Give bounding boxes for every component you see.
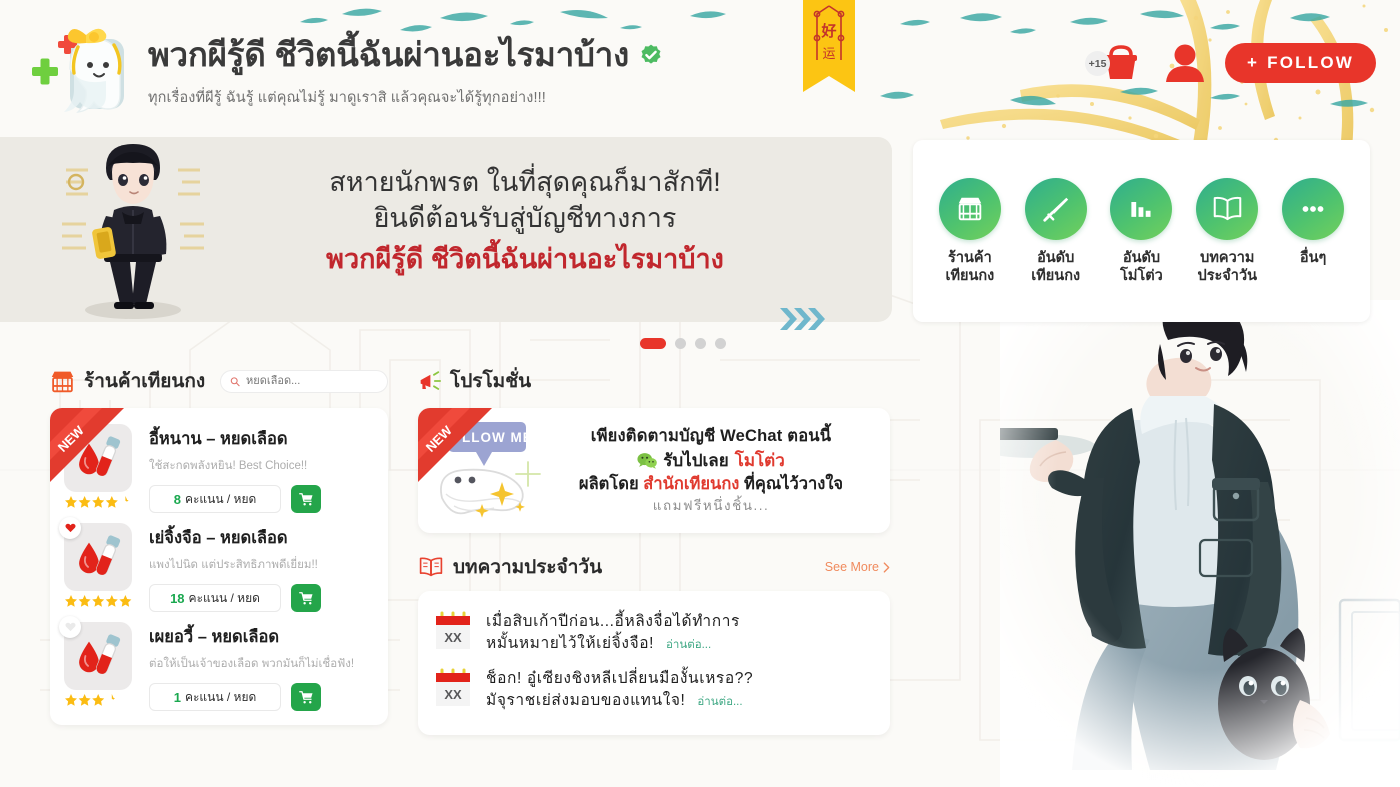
product-price-unit: คะแนน / หยด bbox=[189, 589, 260, 608]
calendar-day: XX bbox=[444, 687, 462, 702]
ellipsis-icon bbox=[1298, 194, 1328, 224]
bar-chart-icon bbox=[1127, 195, 1155, 223]
nav-item-rank-motou[interactable]: อันดับโม่โต่ว bbox=[1102, 178, 1180, 285]
good-luck-ribbon: 好 运 bbox=[803, 0, 855, 92]
product-thumbnail bbox=[64, 523, 132, 591]
add-to-cart-button[interactable] bbox=[291, 485, 321, 513]
list-item[interactable]: XX ช็อก! อู๋เซียงชิงหลีเปลี่ยนมืองั้นเหร… bbox=[434, 662, 874, 719]
favorite-heart-icon[interactable] bbox=[59, 418, 81, 440]
nav-circle-more bbox=[1282, 178, 1344, 240]
promotion-section-title: โปรโมชั่น bbox=[450, 366, 531, 396]
read-more-link[interactable]: อ่านต่อ... bbox=[697, 696, 742, 708]
product-action-row: 18 คะแนน / หยด bbox=[149, 584, 374, 612]
product-info: อี้หนาน – หยดเลือด ใช้สะกดพลังหยิน! Best… bbox=[136, 424, 374, 513]
basket-button[interactable]: +15 bbox=[1097, 43, 1145, 83]
banner-line3: พวกผีรู้ดี ชีวิตนี้ฉันผ่านอะไรมาบ้าง bbox=[225, 242, 825, 278]
product-price-value: 18 bbox=[170, 591, 184, 606]
product-name: เผยอวี้ – หยดเลือด bbox=[149, 624, 374, 650]
shop-search-box[interactable] bbox=[220, 370, 388, 393]
promotion-line3: ผลิตโดย สำนักเทียนกง ที่คุณไว้วางใจ bbox=[546, 473, 876, 496]
nav-item-shop[interactable]: ร้านค้าเทียนกง bbox=[931, 178, 1009, 285]
shopping-cart-icon bbox=[299, 690, 314, 704]
banner-line1: สหายนักพรต ในที่สุดคุณก็มาสักที! bbox=[225, 165, 825, 201]
product-thumbnail bbox=[64, 622, 132, 690]
product-price-pill[interactable]: 1 คะแนน / หยด bbox=[149, 683, 281, 711]
user-profile-icon[interactable] bbox=[1163, 42, 1207, 84]
calendar-icon: XX bbox=[434, 611, 472, 651]
article-line2: มัจุราชเย่ส่งมอบของแทนใจ! bbox=[486, 692, 685, 709]
header-actions: +15 + FOLLOW bbox=[1097, 42, 1376, 84]
search-icon bbox=[230, 376, 240, 387]
product-price-pill[interactable]: 8 คะแนน / หยด bbox=[149, 485, 281, 513]
calendar-day: XX bbox=[444, 630, 462, 645]
promotion-line4: แถมฟรีหนึ่งชิ้น... bbox=[546, 496, 876, 515]
banner-dot-2[interactable] bbox=[675, 338, 686, 349]
product-rating-stars bbox=[64, 496, 132, 509]
promotion-card[interactable]: NEW FOLLOW ME เพียงติดตามบัญชี WeChat ตอ… bbox=[418, 408, 890, 533]
product-name: อี้หนาน – หยดเลือด bbox=[149, 426, 374, 452]
add-to-cart-button[interactable] bbox=[291, 584, 321, 612]
shopping-cart-icon bbox=[299, 492, 314, 506]
add-to-cart-button[interactable] bbox=[291, 683, 321, 711]
product-name: เย่จิ้งจือ – หยดเลือด bbox=[149, 525, 374, 551]
see-more-label: See More bbox=[825, 560, 879, 574]
shopping-cart-icon bbox=[299, 591, 314, 605]
site-header: พวกผีรู้ดี ชีวิตนี้ฉันผ่านอะไรมาบ้าง ทุก… bbox=[0, 0, 1400, 137]
shop-product-card: NEW bbox=[50, 408, 388, 725]
brand-subtitle: ทุกเรื่องที่ผีรู้ ฉันรู้ แต่คุณไม่รู้ มา… bbox=[148, 86, 663, 109]
article-text: เมื่อสิบเก้าปีก่อน...อี้หลิงจื่อได้ทำการ… bbox=[486, 611, 874, 656]
chibi-character-illustration bbox=[48, 132, 218, 322]
articles-section-header: บทความประจำวัน See More bbox=[418, 553, 890, 581]
product-action-row: 8 คะแนน / หยด bbox=[149, 485, 374, 513]
product-thumbnail bbox=[64, 424, 132, 492]
banner-dot-1[interactable] bbox=[640, 338, 666, 349]
shop-section-title: ร้านค้าเทียนกง bbox=[84, 366, 205, 396]
basket-count-badge: +15 bbox=[1085, 51, 1110, 76]
promotion-line2-pre: รับไปเลย bbox=[663, 449, 728, 473]
chevron-right-icon bbox=[883, 562, 890, 573]
banner-line2: ยินดีต้อนรับสู่บัญชีทางการ bbox=[225, 201, 825, 237]
open-book-icon bbox=[1212, 195, 1243, 223]
svg-text:FOLLOW ME: FOLLOW ME bbox=[441, 430, 532, 445]
nav-label-rank-motou: อันดับโม่โต่ว bbox=[1102, 249, 1180, 285]
nav-circle-shop bbox=[939, 178, 1001, 240]
product-rating-stars bbox=[64, 595, 132, 608]
sword-icon bbox=[1041, 194, 1071, 224]
nav-item-rank-tiangong[interactable]: อันดับเทียนกง bbox=[1017, 178, 1095, 285]
calendar-icon: XX bbox=[434, 668, 472, 708]
nav-circle-articles bbox=[1196, 178, 1258, 240]
shop-section-header: ร้านค้าเทียนกง bbox=[50, 366, 388, 396]
list-item[interactable]: อี้หนาน – หยดเลือด ใช้สะกดพลังหยิน! Best… bbox=[50, 414, 388, 513]
promotion-line3-post: ที่คุณไว้วางใจ bbox=[744, 475, 843, 493]
promotion-line2: รับไปเลย โมโต่ว bbox=[546, 449, 876, 473]
product-rating-stars bbox=[64, 694, 132, 707]
article-line2: หมั้นหมายไว้ให้เย่จิ้งจือ! bbox=[486, 635, 654, 652]
product-description: ใช้สะกดพลังหยิน! Best Choice!! bbox=[149, 457, 374, 475]
follow-plus-icon: + bbox=[1247, 53, 1259, 73]
nav-item-more[interactable]: อื่นๆ bbox=[1274, 178, 1352, 267]
storefront-icon bbox=[50, 369, 75, 394]
nav-label-rank-tiangong: อันดับเทียนกง bbox=[1017, 249, 1095, 285]
ghost-mascot-logo bbox=[26, 17, 144, 121]
banner-dot-4[interactable] bbox=[715, 338, 726, 349]
article-line1: ช็อก! อู๋เซียงชิงหลีเปลี่ยนมืองั้นเหรอ?? bbox=[486, 670, 753, 687]
promotion-line2-highlight: โมโต่ว bbox=[735, 449, 785, 473]
banner-copy: สหายนักพรต ในที่สุดคุณก็มาสักที! ยินดีต้… bbox=[225, 165, 825, 278]
read-more-link[interactable]: อ่านต่อ... bbox=[666, 639, 711, 651]
banner-dot-3[interactable] bbox=[695, 338, 706, 349]
verified-badge-icon bbox=[639, 43, 663, 67]
product-action-row: 1 คะแนน / หยด bbox=[149, 683, 374, 711]
product-price-unit: คะแนน / หยด bbox=[185, 490, 256, 509]
list-item[interactable]: เย่จิ้งจือ – หยดเลือด แพงไปนิด แต่ประสิท… bbox=[50, 513, 388, 612]
follow-button-label: FOLLOW bbox=[1267, 53, 1354, 73]
main-column: โปรโมชั่น NEW FOLLOW ME เพีย bbox=[418, 366, 890, 735]
promotion-line3-pre: ผลิตโดย bbox=[579, 475, 639, 493]
quick-nav-card: ร้านค้าเทียนกง อันดับเทียนกง อันดับโม่โต… bbox=[913, 140, 1370, 322]
banner-pagination-dots[interactable] bbox=[640, 338, 726, 349]
brand-block: พวกผีรู้ดี ชีวิตนี้ฉันผ่านอะไรมาบ้าง ทุก… bbox=[0, 17, 663, 121]
product-price-unit: คะแนน / หยด bbox=[185, 688, 256, 707]
list-item[interactable]: XX เมื่อสิบเก้าปีก่อน...อี้หลิงจื่อได้ทำ… bbox=[434, 605, 874, 662]
product-price-value: 8 bbox=[174, 492, 181, 507]
blood-drop-vial-icon bbox=[71, 629, 125, 683]
page-title: พวกผีรู้ดี ชีวิตนี้ฉันผ่านอะไรมาบ้าง bbox=[148, 28, 663, 81]
nav-circle-rank-tiangong bbox=[1025, 178, 1087, 240]
promotion-line1: เพียงติดตามบัญชี WeChat ตอนนี้ bbox=[546, 425, 876, 448]
product-description: แพงไปนิด แต่ประสิทธิภาพดีเยี่ยม!! bbox=[149, 556, 374, 574]
product-info: เย่จิ้งจือ – หยดเลือด แพงไปนิด แต่ประสิท… bbox=[136, 523, 374, 612]
product-thumb-wrap bbox=[64, 622, 136, 711]
shop-column: ร้านค้าเทียนกง NEW bbox=[50, 366, 388, 725]
open-book-icon bbox=[418, 556, 444, 579]
svg-text:运: 运 bbox=[822, 47, 835, 62]
articles-card: XX เมื่อสิบเก้าปีก่อน...อี้หลิงจื่อได้ทำ… bbox=[418, 591, 890, 735]
ghost-mascot-icon: FOLLOW ME bbox=[424, 416, 546, 526]
storefront-icon bbox=[955, 194, 985, 224]
list-item[interactable]: เผยอวี้ – หยดเลือด ต่อให้เป็นเจ้าของเลือ… bbox=[50, 612, 388, 711]
brand-text: พวกผีรู้ดี ชีวิตนี้ฉันผ่านอะไรมาบ้าง ทุก… bbox=[148, 28, 663, 109]
blood-drop-vial-icon bbox=[71, 530, 125, 584]
chevron-right-triple-icon[interactable] bbox=[778, 306, 826, 332]
promotion-text: เพียงติดตามบัญชี WeChat ตอนนี้ รับไปเลย … bbox=[546, 425, 890, 515]
nav-label-more: อื่นๆ bbox=[1274, 249, 1352, 267]
nav-item-articles[interactable]: บทความประจำวัน bbox=[1188, 178, 1266, 285]
follow-button[interactable]: + FOLLOW bbox=[1225, 43, 1376, 83]
articles-section-title: บทความประจำวัน bbox=[453, 552, 602, 582]
nav-circle-rank-motou bbox=[1110, 178, 1172, 240]
character-illustration bbox=[1000, 300, 1400, 787]
favorite-heart-icon[interactable] bbox=[59, 616, 81, 638]
promotion-section-header: โปรโมชั่น bbox=[418, 366, 890, 396]
brand-title-text: พวกผีรู้ดี ชีวิตนี้ฉันผ่านอะไรมาบ้าง bbox=[148, 28, 629, 81]
nav-label-shop: ร้านค้าเทียนกง bbox=[931, 249, 1009, 285]
product-description: ต่อให้เป็นเจ้าของเลือด พวกมันก็ไม่เชื่อฟ… bbox=[149, 655, 374, 673]
nav-label-articles: บทความประจำวัน bbox=[1188, 249, 1266, 285]
product-info: เผยอวี้ – หยดเลือด ต่อให้เป็นเจ้าของเลือ… bbox=[136, 622, 374, 711]
article-text: ช็อก! อู๋เซียงชิงหลีเปลี่ยนมืองั้นเหรอ??… bbox=[486, 668, 874, 713]
favorite-heart-icon[interactable] bbox=[59, 517, 81, 539]
wechat-icon bbox=[637, 452, 657, 469]
see-more-link[interactable]: See More bbox=[825, 560, 890, 574]
product-thumb-wrap bbox=[64, 523, 136, 612]
megaphone-icon bbox=[418, 370, 441, 392]
product-price-value: 1 bbox=[174, 690, 181, 705]
article-line1: เมื่อสิบเก้าปีก่อน...อี้หลิงจื่อได้ทำการ bbox=[486, 613, 740, 630]
product-price-pill[interactable]: 18 คะแนน / หยด bbox=[149, 584, 281, 612]
promotion-line3-highlight: สำนักเทียนกง bbox=[643, 475, 739, 493]
product-thumb-wrap bbox=[64, 424, 136, 513]
svg-text:好: 好 bbox=[820, 22, 836, 40]
blood-drop-vial-icon bbox=[71, 431, 125, 485]
hero-banner[interactable]: สหายนักพรต ในที่สุดคุณก็มาสักที! ยินดีต้… bbox=[0, 137, 892, 322]
shop-search-input[interactable] bbox=[246, 375, 378, 387]
